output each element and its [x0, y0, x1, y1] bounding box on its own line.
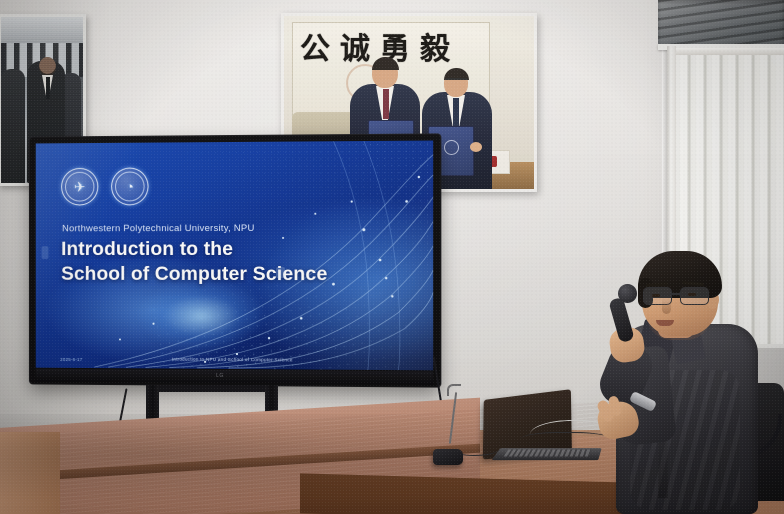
slide-background: ✈ ◔ Northwestern Polytechnical Universit… [36, 141, 433, 371]
computer-science-school-logo: ◔ [111, 167, 148, 205]
eyeglass-bridge [670, 293, 680, 295]
photo-center-glasses-right [445, 78, 468, 85]
slide-title-line-2: School of Computer Science [61, 262, 327, 287]
presentation-display[interactable]: ✈ ◔ Northwestern Polytechnical Universit… [30, 134, 440, 386]
slide-organization: Northwestern Polytechnical University, N… [62, 223, 254, 234]
valance-texture [658, 0, 784, 48]
slide-title-line-1: Introduction to the [61, 237, 327, 262]
presenter [596, 252, 784, 514]
display-screen[interactable]: ✈ ◔ Northwestern Polytechnical Universit… [36, 141, 433, 371]
npu-crest-glyph: ✈ [74, 180, 85, 194]
slide-title: Introduction to the School of Computer S… [61, 237, 327, 287]
calligraphy-char-2: 诚 [340, 35, 370, 65]
slide-date: 2025-6-17 [60, 357, 82, 362]
clicker-device[interactable] [433, 449, 463, 465]
photo-center-tie-left [383, 89, 389, 119]
photo-center-folder-emblem-right [444, 140, 459, 155]
presenter-nose [662, 298, 671, 314]
display-bottom-bezel: LG [36, 369, 433, 385]
blind-rail [674, 48, 784, 55]
slide-logo-row: ✈ ◔ [61, 167, 148, 205]
npu-crest-logo: ✈ [61, 168, 98, 206]
eyeglass-lens-right [680, 287, 709, 305]
presenter-eye-right [688, 293, 696, 296]
screen-reflection-spot [276, 267, 285, 278]
calligraphy-char-4: 毅 [420, 35, 450, 65]
screenshot-root: 公 诚 勇 毅 [0, 0, 784, 514]
slide-footer: Introduction to NPU and School of Comput… [172, 357, 293, 363]
display-brand-mark: LG [216, 373, 224, 379]
screen-reflection-spot-left [42, 247, 49, 260]
curtain-valance [658, 0, 784, 48]
presenter-eye-left [652, 294, 660, 297]
calligraphy-char-1: 公 [300, 35, 330, 65]
photo-center-hand-right-b [470, 142, 482, 152]
cs-school-glyph: ◔ [126, 179, 134, 193]
photo-center-tie-right [453, 98, 459, 128]
display-stand-crossbar [146, 385, 278, 392]
handheld-microphone-head[interactable] [618, 284, 637, 303]
